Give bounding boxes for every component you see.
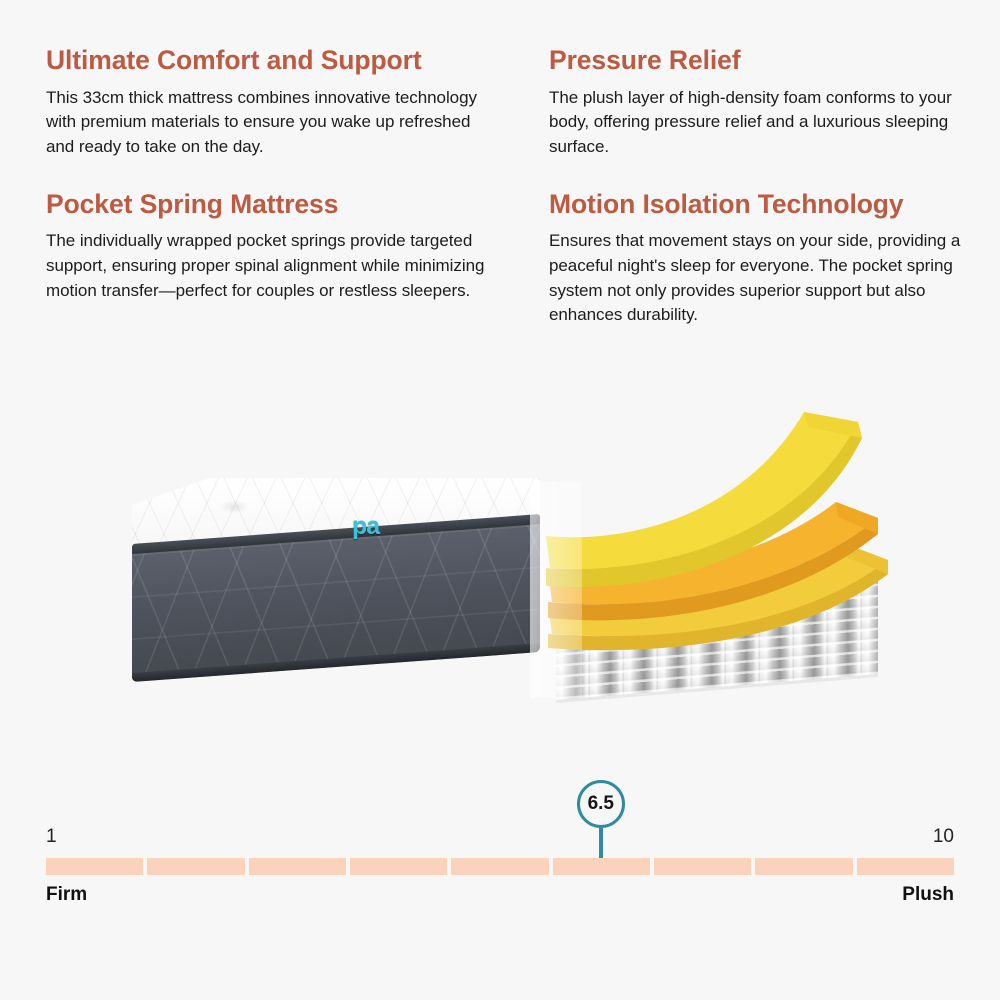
scale-segment[interactable]: [654, 858, 751, 875]
scale-segment[interactable]: [147, 858, 244, 875]
scale-segment[interactable]: [249, 858, 346, 875]
product-cutaway-illustration: pa: [0, 360, 1000, 760]
firmness-marker[interactable]: 6.5: [577, 780, 625, 858]
firmness-scale[interactable]: 1 10 6.5 Firm Plush: [46, 826, 954, 910]
feature-card-ultimate-comfort: Ultimate Comfort and Support This 33cm t…: [46, 46, 501, 160]
feature-title: Pocket Spring Mattress: [46, 190, 501, 220]
comfort-foam-layer: [546, 408, 886, 608]
feature-title: Ultimate Comfort and Support: [46, 46, 501, 76]
feature-body: This 33cm thick mattress combines innova…: [46, 86, 501, 160]
scale-endpoint-numbers: 1 10: [46, 826, 954, 852]
scale-label-firm: Firm: [46, 884, 87, 906]
firmness-marker-value: 6.5: [577, 780, 625, 828]
scale-segment[interactable]: [451, 858, 548, 875]
scale-label-plush: Plush: [902, 884, 954, 906]
feature-body: Ensures that movement stays on your side…: [549, 229, 964, 328]
mattress-body: [132, 478, 552, 698]
firmness-marker-stem: [599, 828, 603, 858]
scale-segment[interactable]: [350, 858, 447, 875]
firmness-scale-track[interactable]: 6.5: [46, 858, 954, 875]
feature-title: Motion Isolation Technology: [549, 190, 964, 220]
feature-title: Pressure Relief: [549, 46, 964, 76]
feature-card-pressure-relief: Pressure Relief The plush layer of high-…: [549, 46, 964, 160]
scale-segment[interactable]: [857, 858, 954, 875]
scale-max-value: 10: [933, 826, 954, 848]
scale-segment[interactable]: [755, 858, 852, 875]
scale-segment[interactable]: [46, 858, 143, 875]
scale-min-value: 1: [46, 826, 57, 848]
scale-endpoint-labels: Firm Plush: [46, 884, 954, 910]
brand-logo: pa: [352, 512, 379, 541]
feature-body: The individually wrapped pocket springs …: [46, 229, 501, 303]
feature-card-motion-isolation: Motion Isolation Technology Ensures that…: [549, 190, 964, 328]
feature-body: The plush layer of high-density foam con…: [549, 86, 964, 160]
scale-segment[interactable]: [553, 858, 650, 875]
feature-grid: Ultimate Comfort and Support This 33cm t…: [0, 0, 1000, 328]
feature-card-pocket-spring: Pocket Spring Mattress The individually …: [46, 190, 501, 328]
